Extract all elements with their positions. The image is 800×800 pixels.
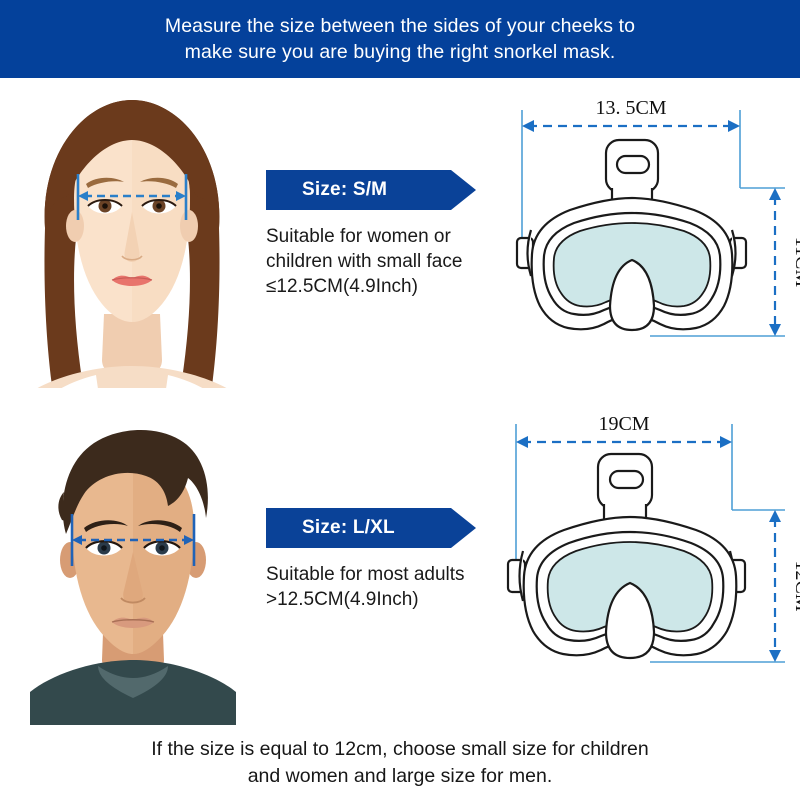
- woman-ear-right: [180, 210, 198, 242]
- desc-line-1-sm: Suitable for women or: [266, 224, 496, 249]
- desc-line-2-sm: children with small face: [266, 249, 496, 274]
- height-label-sm: 11CM: [791, 237, 800, 288]
- header-text: Measure the size between the sides of yo…: [165, 13, 635, 65]
- size-text-block-lxl: Size: L/XL Suitable for most adults >12.…: [266, 508, 501, 612]
- width-label-sm: 13. 5CM: [595, 97, 666, 119]
- size-guide-infographic: Measure the size between the sides of yo…: [0, 0, 800, 800]
- mask-side-hinge-left-lxl: [520, 551, 524, 601]
- section-small-medium: Size: S/M Suitable for women or children…: [0, 78, 800, 403]
- width-dimension-lxl: 19CM: [516, 413, 732, 448]
- size-description-sm: Suitable for women or children with smal…: [266, 224, 496, 299]
- footer-line-2: and women and large size for men.: [151, 763, 648, 790]
- mask-diagram-sm: 13. 5CM 11CM: [500, 78, 800, 403]
- size-badge-label-sm: Size: S/M: [302, 179, 387, 201]
- mask-buckle-slot-lxl: [610, 471, 643, 488]
- height-label-lxl: 12CM: [791, 560, 800, 611]
- height-dimension-lxl: 12CM: [769, 510, 800, 662]
- footer-note: If the size is equal to 12cm, choose sma…: [0, 726, 800, 800]
- mask-buckle-slot-sm: [617, 156, 649, 173]
- header-line-1: Measure the size between the sides of yo…: [165, 13, 635, 39]
- section-large-xlarge: Size: L/XL Suitable for most adults >12.…: [0, 410, 800, 725]
- width-dimension-sm: 13. 5CM: [522, 97, 740, 132]
- desc-line-2-lxl: >12.5CM(4.9Inch): [266, 587, 501, 612]
- footer-text: If the size is equal to 12cm, choose sma…: [151, 736, 648, 790]
- size-badge-sm: Size: S/M: [266, 170, 451, 210]
- header-banner: Measure the size between the sides of yo…: [0, 0, 800, 78]
- woman-face-illustration: [0, 78, 265, 403]
- footer-line-1: If the size is equal to 12cm, choose sma…: [151, 736, 648, 763]
- mask-diagram-lxl: 19CM 12CM: [500, 410, 800, 725]
- height-dimension-sm: 11CM: [769, 188, 800, 336]
- size-badge-lxl: Size: L/XL: [266, 508, 451, 548]
- desc-line-1-lxl: Suitable for most adults: [266, 562, 501, 587]
- width-label-lxl: 19CM: [598, 413, 649, 435]
- man-face-illustration: [0, 410, 265, 725]
- size-text-block-sm: Size: S/M Suitable for women or children…: [266, 170, 496, 299]
- snorkel-mask-sm: [517, 140, 746, 330]
- header-line-2: make sure you are buying the right snork…: [165, 39, 635, 65]
- snorkel-mask-lxl: [508, 454, 745, 658]
- woman-ear-left: [66, 210, 84, 242]
- size-badge-label-lxl: Size: L/XL: [302, 517, 395, 539]
- desc-line-3-sm: ≤12.5CM(4.9Inch): [266, 274, 496, 299]
- size-description-lxl: Suitable for most adults >12.5CM(4.9Inch…: [266, 562, 501, 612]
